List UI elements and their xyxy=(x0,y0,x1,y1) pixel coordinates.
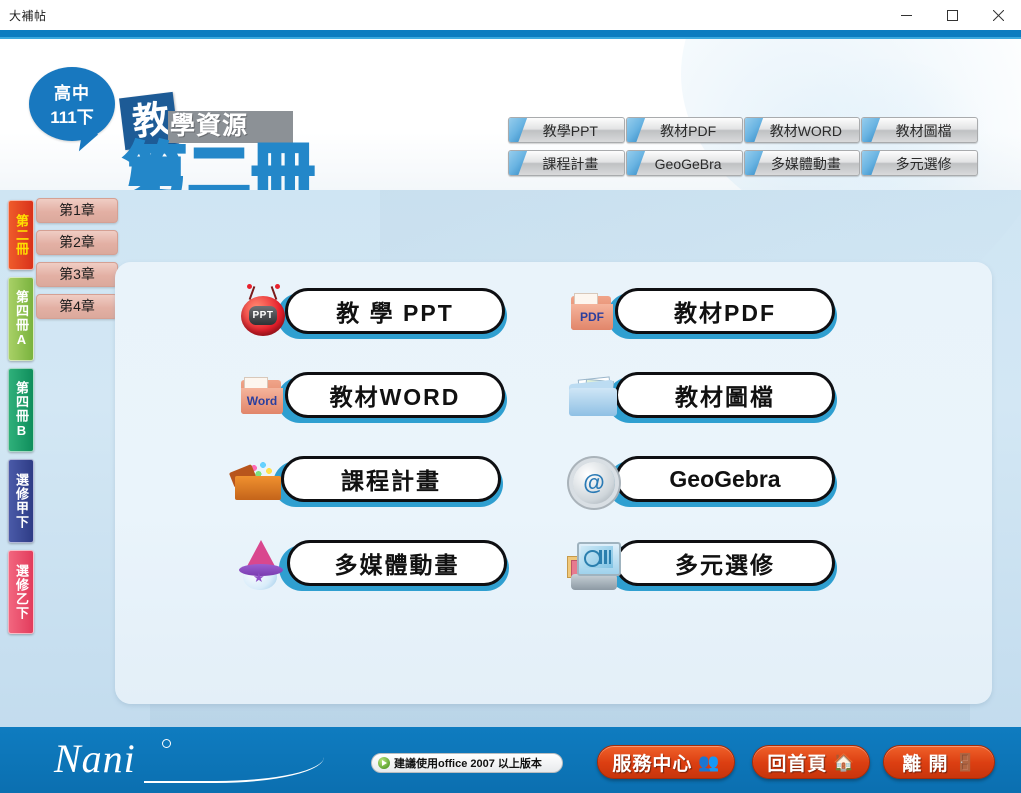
chapter-button-1[interactable]: 第1章 xyxy=(36,198,118,223)
sidebar-item-volume-2[interactable]: 第二冊 xyxy=(8,200,34,270)
tv-ppt-icon: PPT xyxy=(235,282,295,342)
top-accent-band xyxy=(0,30,1021,37)
nav-chip-ppt-label: 教學PPT xyxy=(543,123,598,139)
home-button-label: 回首頁 xyxy=(767,749,827,776)
sidebar-item-elective-b[interactable]: 選修乙下 xyxy=(8,550,34,634)
nav-chip-images-label: 教材圖檔 xyxy=(896,123,952,139)
main-button-pdf[interactable]: 教材PDF PDF xyxy=(565,288,835,340)
magic-hat-icon: ★ xyxy=(237,534,297,594)
title-bar: 大補帖 xyxy=(0,0,1021,30)
nav-chip-pdf-label: 教材PDF xyxy=(660,123,716,139)
nav-chip-multimedia-label: 多媒體動畫 xyxy=(771,156,841,172)
main-button-geogebra-label: GeoGebra xyxy=(615,456,835,502)
page-header: 高中 111下 教 學資源 第二冊 教學PPT 教材PDF 教材WORD 教材圖… xyxy=(0,39,1021,190)
office-version-notice-label: 建議使用office 2007 以上版本 xyxy=(394,755,542,771)
header-nav-row-1: 教學PPT 教材PDF 教材WORD 教材圖檔 xyxy=(508,117,978,143)
folder-pdf-icon: PDF xyxy=(565,282,625,342)
maximize-button[interactable] xyxy=(929,0,975,30)
exit-button-label: 離 開 xyxy=(902,749,948,776)
content-area: 第二冊 第四冊A 第四冊B 選修甲下 選修乙下 第1章 第2章 第3章 第4章 … xyxy=(0,190,1021,727)
volume-tabs: 第二冊 第四冊A 第四冊B 選修甲下 選修乙下 xyxy=(8,200,32,641)
chapter-list: 第1章 第2章 第3章 第4章 xyxy=(36,198,116,326)
window-controls xyxy=(883,0,1021,30)
close-button[interactable] xyxy=(975,0,1021,30)
nav-chip-geogebra[interactable]: GeoGeBra xyxy=(626,150,743,176)
photo-envelope-icon xyxy=(565,366,625,426)
nani-logo: Nani xyxy=(36,733,336,789)
nav-chip-course-plan-label: 課程計畫 xyxy=(542,156,598,172)
sidebar-item-elective-a[interactable]: 選修甲下 xyxy=(8,459,34,543)
main-button-geogebra[interactable]: GeoGebra @ xyxy=(565,456,835,508)
play-icon xyxy=(378,757,390,769)
grade-badge-line2: 111下 xyxy=(29,102,115,126)
nav-chip-word-label: 教材WORD xyxy=(770,123,842,139)
chapter-button-2[interactable]: 第2章 xyxy=(36,230,118,255)
main-button-pdf-label: 教材PDF xyxy=(615,288,835,334)
main-button-ppt[interactable]: 教 學 PPT PPT xyxy=(235,288,505,340)
application-window: 大補帖 高中 111下 教 學資源 第二冊 xyxy=(0,0,1021,793)
office-version-notice: 建議使用office 2007 以上版本 xyxy=(371,753,563,773)
main-button-word-label: 教材WORD xyxy=(285,372,505,418)
grade-badge-line1: 高中 xyxy=(29,67,115,102)
service-center-button-label: 服務中心 xyxy=(612,749,692,776)
main-button-word[interactable]: 教材WORD Word xyxy=(235,372,505,424)
nav-chip-ppt[interactable]: 教學PPT xyxy=(508,117,625,143)
main-button-course-plan-label: 課程計畫 xyxy=(281,456,501,502)
nav-chip-multimedia[interactable]: 多媒體動畫 xyxy=(744,150,861,176)
door-icon: 🚪 xyxy=(955,754,976,771)
page-title: 第二冊 xyxy=(124,143,316,190)
header-nav-row-2: 課程計畫 GeoGeBra 多媒體動畫 多元選修 xyxy=(508,150,978,176)
brand-logo: 高中 111下 教 學資源 第二冊 xyxy=(18,45,318,185)
exit-button[interactable]: 離 開 🚪 xyxy=(883,745,995,779)
chapter-button-4[interactable]: 第4章 xyxy=(36,294,118,319)
nav-chip-electives[interactable]: 多元選修 xyxy=(861,150,978,176)
nani-logo-dot xyxy=(162,739,171,748)
nav-chip-word[interactable]: 教材WORD xyxy=(744,117,861,143)
nav-chip-geogebra-label: GeoGeBra xyxy=(655,156,722,172)
nav-chip-pdf[interactable]: 教材PDF xyxy=(626,117,743,143)
minimize-button[interactable] xyxy=(883,0,929,30)
window-title: 大補帖 xyxy=(0,7,47,24)
nani-logo-swoosh xyxy=(144,757,324,783)
monitor-chart-icon xyxy=(565,534,625,594)
chapter-button-3[interactable]: 第3章 xyxy=(36,262,118,287)
main-panel: 教 學 PPT PPT 教材PDF xyxy=(115,262,992,704)
main-button-ppt-label: 教 學 PPT xyxy=(285,288,505,334)
main-button-multimedia-label: 多媒體動畫 xyxy=(287,540,507,586)
main-button-multimedia[interactable]: 多媒體動畫 ★ xyxy=(237,540,507,592)
main-button-grid: 教 學 PPT PPT 教材PDF xyxy=(115,262,992,704)
main-button-images-label: 教材圖檔 xyxy=(615,372,835,418)
folder-word-icon: Word xyxy=(235,366,295,426)
logo-resource-text: 學資源 xyxy=(170,109,292,143)
sidebar-item-volume-4a[interactable]: 第四冊A xyxy=(8,277,34,361)
nav-chip-electives-label: 多元選修 xyxy=(896,156,952,172)
main-button-electives-label: 多元選修 xyxy=(615,540,835,586)
service-center-button[interactable]: 服務中心 👥 xyxy=(597,745,735,779)
nav-chip-images[interactable]: 教材圖檔 xyxy=(861,117,978,143)
header-nav: 教學PPT 教材PDF 教材WORD 教材圖檔 課程計畫 GeoGeBra 多媒… xyxy=(508,117,978,183)
main-button-course-plan[interactable]: 課程計畫 xyxy=(231,456,501,508)
gear-at-icon: @ xyxy=(565,450,625,510)
nav-chip-course-plan[interactable]: 課程計畫 xyxy=(508,150,625,176)
main-button-electives[interactable]: 多元選修 xyxy=(565,540,835,592)
home-button[interactable]: 回首頁 🏠 xyxy=(752,745,870,779)
house-icon: 🏠 xyxy=(833,754,854,771)
nani-logo-text: Nani xyxy=(54,735,136,782)
treasure-box-icon xyxy=(231,450,291,510)
main-button-images[interactable]: 教材圖檔 xyxy=(565,372,835,424)
grade-badge: 高中 111下 xyxy=(29,67,115,141)
people-icon: 👥 xyxy=(698,754,719,771)
sidebar-item-volume-4b[interactable]: 第四冊B xyxy=(8,368,34,452)
